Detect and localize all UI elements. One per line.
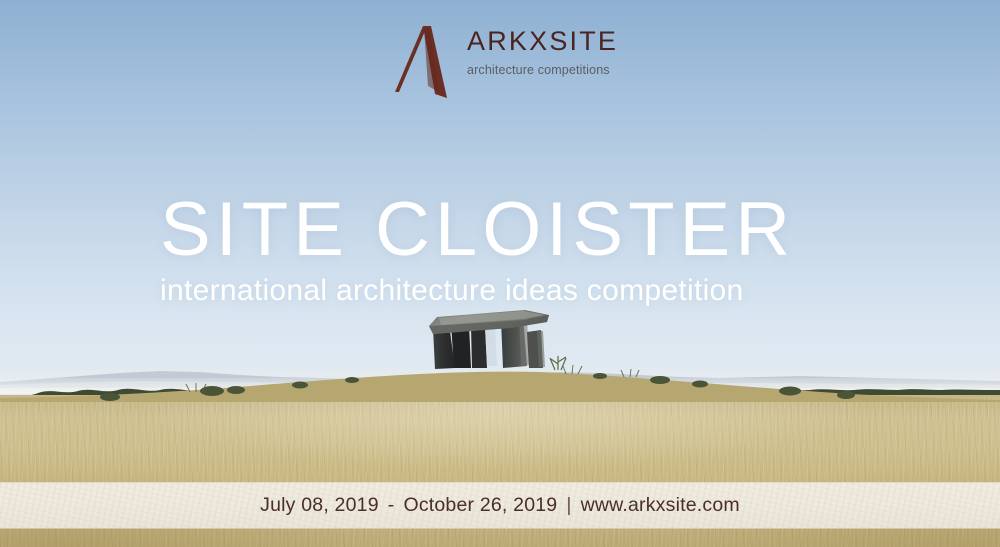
- competition-poster: ARKXSITE architecture competitions SITE …: [0, 0, 1000, 547]
- date-dash: -: [388, 494, 395, 517]
- dolmen-megalith-icon: [415, 302, 575, 388]
- start-date: July 08, 2019: [260, 494, 379, 517]
- end-date: October 26, 2019: [403, 494, 557, 517]
- arkxsite-a-mark-icon: [395, 22, 453, 100]
- hero-textblock: SITE CLOISTER international architecture…: [160, 193, 860, 306]
- website-link[interactable]: www.arkxsite.com: [581, 494, 740, 517]
- page-title: SITE CLOISTER: [160, 193, 860, 267]
- page-subtitle: international architecture ideas competi…: [160, 276, 860, 306]
- footer-text: July 08, 2019 - October 26, 2019 | www.a…: [260, 494, 740, 517]
- footer-bar: July 08, 2019 - October 26, 2019 | www.a…: [0, 483, 1000, 528]
- logo-tagline: architecture competitions: [467, 64, 618, 77]
- logo-wordmark: ARKXSITE: [467, 28, 618, 55]
- footer-separator: |: [566, 494, 571, 517]
- logo-textblock: ARKXSITE architecture competitions: [467, 22, 618, 77]
- arkxsite-logo[interactable]: ARKXSITE architecture competitions: [395, 22, 635, 100]
